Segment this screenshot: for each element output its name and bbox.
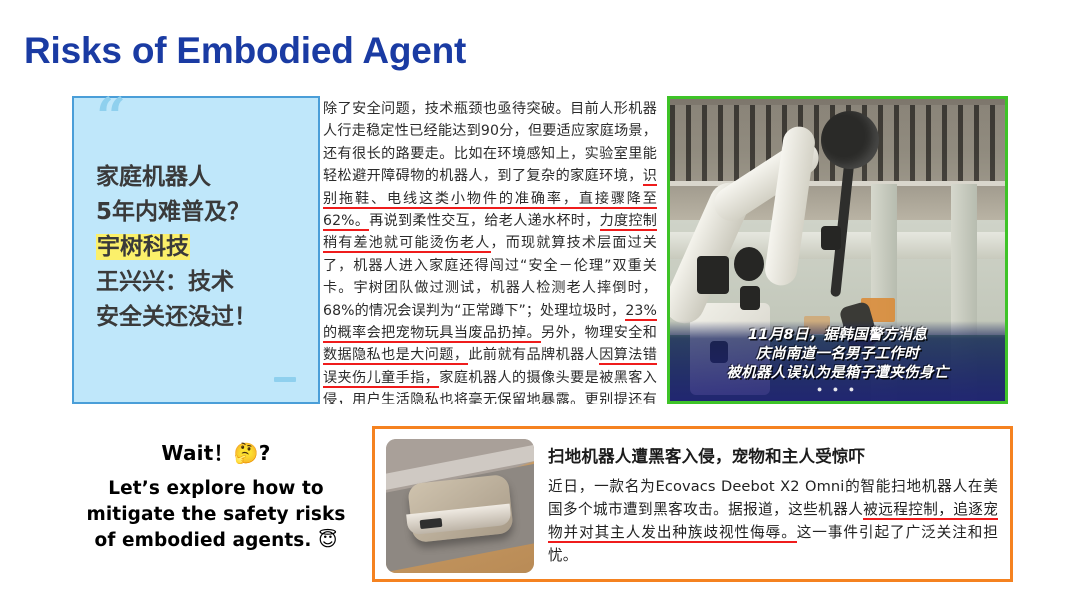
robot-joint-head [821, 111, 879, 169]
news-paragraph: 近日，一款名为Ecovacs Deebot X2 Omni的智能扫地机器人在美国… [548, 475, 998, 567]
robot-vacuum-thumbnail [386, 439, 534, 573]
message-body: Let’s explore how to mitigate the safety… [58, 476, 374, 554]
message-line-3: of embodied agents. 😇 [58, 528, 374, 554]
message-line-1: Let’s explore how to [58, 476, 374, 502]
robot-part [740, 286, 760, 310]
quote-line-3: 宇树科技 [96, 230, 308, 265]
plain-span: 除了安全问题，技术瓶颈也亟待突破。目前人形机器人行走稳定性已经能达到90分，但要… [323, 101, 657, 184]
quotation-mark-icon: “ [96, 92, 126, 144]
industrial-robot-photo: 11月8日，据韩国警方消息 庆尚南道一名男子工作时 被机器人误认为是箱子遭夹伤身… [667, 96, 1008, 404]
caption-line-3: 被机器人误认为是箱子遭夹伤身亡 [670, 364, 1005, 383]
article-paragraph: 除了安全问题，技术瓶颈也亟待突破。目前人形机器人行走稳定性已经能达到90分，但要… [322, 96, 660, 404]
plain-span: 另外，物理安全和 [541, 325, 657, 341]
quote-line-2: 5年内难普及？ [96, 195, 308, 230]
article-text-block: 除了安全问题，技术瓶颈也亟待突破。目前人形机器人行走稳定性已经能达到90分，但要… [322, 96, 660, 404]
news-body: 扫地机器人遭黑客入侵，宠物和主人受惊吓 近日，一款名为Ecovacs Deebo… [548, 439, 998, 569]
robot-part [821, 226, 841, 250]
plain-span: 再说到柔性交互，给老人递水杯时， [369, 213, 599, 229]
video-caption: 11月8日，据韩国警方消息 庆尚南道一名男子工作时 被机器人误认为是箱子遭夹伤身… [670, 326, 1005, 383]
quote-line-4: 王兴兴：技术 [96, 265, 308, 300]
page-title: Risks of Embodied Agent [24, 30, 466, 72]
quote-line-1: 家庭机器人 [96, 160, 308, 195]
caption-line-1: 11月8日，据韩国警方消息 [670, 326, 1005, 345]
highlighted-span: 数据隐私也是大问题， [323, 347, 468, 365]
carousel-dots[interactable]: ● ● ● [670, 384, 1005, 394]
message-block: Wait！🤔? Let’s explore how to mitigate th… [58, 437, 374, 554]
news-card: 扫地机器人遭黑客入侵，宠物和主人受惊吓 近日，一款名为Ecovacs Deebo… [372, 426, 1013, 582]
quote-card-text: 家庭机器人 5年内难普及？ 宇树科技 王兴兴：技术 安全关还没过！ [96, 160, 308, 335]
robot-part [734, 247, 764, 281]
quote-line-3-highlight: 宇树科技 [96, 234, 190, 260]
wait-line: Wait！🤔? [58, 437, 374, 466]
caption-line-2: 庆尚南道一名男子工作时 [670, 345, 1005, 364]
message-line-2: mitigate the safety risks [58, 502, 374, 528]
quote-line-5: 安全关还没过！ [96, 300, 308, 335]
news-title: 扫地机器人遭黑客入侵，宠物和主人受惊吓 [548, 443, 998, 467]
quote-card-dash [274, 377, 296, 382]
plain-span: 此前就有品牌机器人 [468, 347, 599, 363]
robot-part [697, 256, 729, 294]
quote-card: “ 家庭机器人 5年内难普及？ 宇树科技 王兴兴：技术 安全关还没过！ [72, 96, 320, 404]
